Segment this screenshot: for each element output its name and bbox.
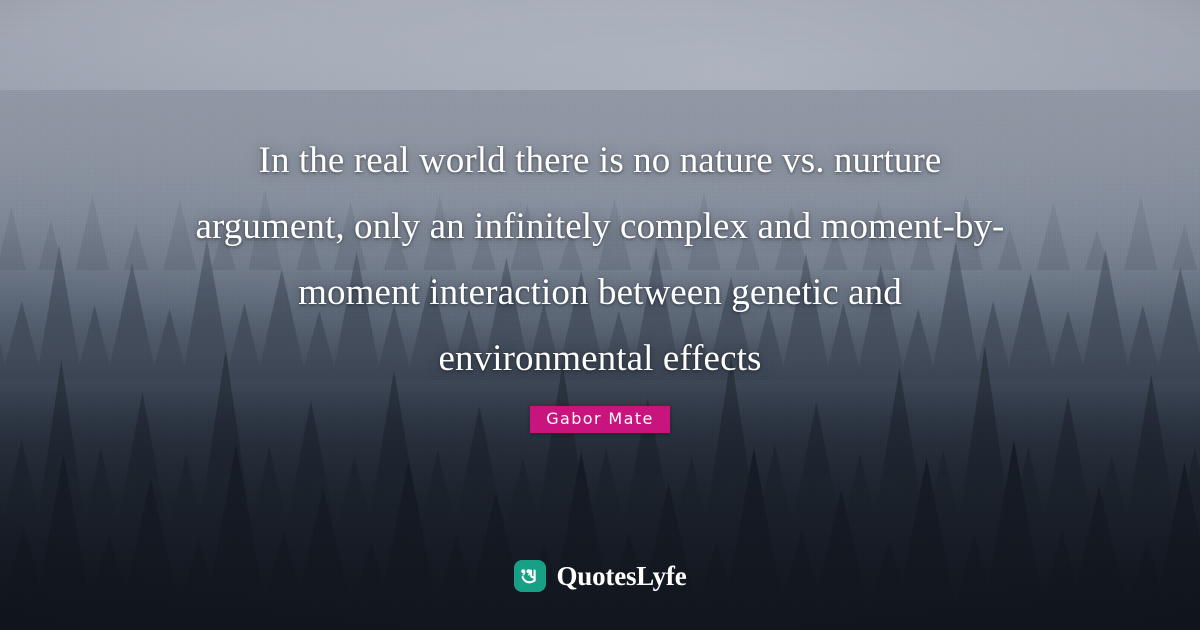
card-content: In the real world there is no nature vs.… xyxy=(0,0,1200,630)
brand-name: QuotesLyfe xyxy=(557,561,687,591)
brand-logo: QuotesLyfe xyxy=(0,560,1200,592)
author-badge: Gabor Mate xyxy=(530,406,670,433)
quote-smiley-icon xyxy=(514,560,546,592)
quote-image-card: In the real world there is no nature vs.… xyxy=(0,0,1200,630)
quote-text: In the real world there is no nature vs.… xyxy=(195,128,1005,392)
